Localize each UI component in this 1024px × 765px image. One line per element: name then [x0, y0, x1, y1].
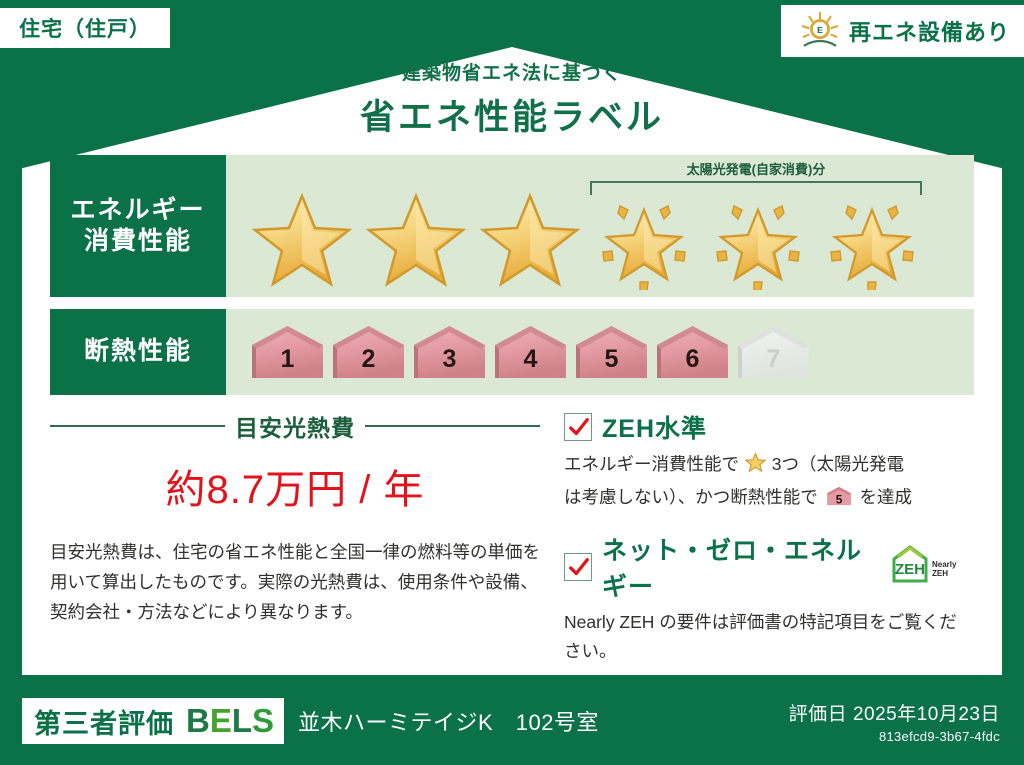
star-rating	[248, 189, 964, 291]
zeh-text-part1: エネルギー消費性能で	[564, 454, 739, 474]
zeh-logo-sub1: Nearly	[932, 560, 957, 569]
insulation-performance-label: 断熱性能	[50, 309, 226, 395]
bels-certification-mark: 第三者評価 BELS	[22, 698, 284, 744]
star-icon-solar	[590, 190, 698, 290]
zeh-logo-text: ZEH	[895, 561, 925, 578]
utility-cost-note: 目安光熱費は、住宅の省エネ性能と全国一律の燃料等の単価を用いて算出したものです。…	[50, 537, 540, 627]
energy-label-root: 住宅（住戸） E 再エネ設備あり 建築物省エネ	[0, 0, 1024, 765]
solar-bracket-caption: 太陽光発電(自家消費)分	[590, 159, 922, 178]
insulation-grade-badge-inactive: 7	[734, 323, 813, 381]
evaluation-info: 評価日 2025年10月23日 813efcd9-3b67-4fdc	[789, 699, 1000, 744]
main-content: エネルギー 消費性能 太陽光発電(自家消費)分	[50, 155, 974, 669]
insulation-label-text: 断熱性能	[84, 336, 192, 367]
insulation-performance-row: 断熱性能	[50, 309, 974, 395]
grade-number: 1	[248, 323, 327, 381]
star-icon	[362, 190, 470, 290]
zeh-text-star-count: 3つ（太陽光発電	[772, 454, 904, 474]
zeh-logo-icon: ZEH Nearly ZEH	[888, 543, 974, 590]
net-zero-title: ネット・ゼロ・エネルギー	[602, 531, 872, 603]
bels-logo-text: BELS	[186, 702, 274, 740]
page-title: 建築物省エネ法に基づく 省エネ性能ラベル	[0, 58, 1024, 140]
lower-section: 目安光熱費 約8.7万円 / 年 目安光熱費は、住宅の省エネ性能と全国一律の燃料…	[50, 409, 974, 681]
energy-performance-row: エネルギー 消費性能 太陽光発電(自家消費)分	[50, 155, 974, 297]
grade-number: 3	[410, 323, 489, 381]
zeh-text-part2: は考慮しない）、かつ断熱性能で	[564, 487, 818, 507]
insulation-grade-badge: 4	[491, 323, 570, 381]
title-main: 省エネ性能ラベル	[0, 89, 1024, 140]
utility-cost-column: 目安光熱費 約8.7万円 / 年 目安光熱費は、住宅の省エネ性能と全国一律の燃料…	[50, 409, 550, 681]
svg-text:E: E	[817, 25, 823, 35]
grade-number: 2	[329, 323, 408, 381]
footer: 第三者評価 BELS 並木ハーミテイジK 102号室 評価日 2025年10月2…	[0, 677, 1024, 765]
zeh-standard-heading: ZEH水準	[564, 409, 974, 445]
energy-label-line2: 消費性能	[84, 226, 192, 257]
renewable-equipment-badge: E 再エネ設備あり	[781, 5, 1024, 57]
insulation-grade-scale: 1 2	[226, 309, 974, 395]
zeh-text-part3: を達成	[860, 487, 913, 507]
heading-rule-left	[50, 425, 225, 427]
insulation-grade-badge: 3	[410, 323, 489, 381]
grade-number: 6	[653, 323, 732, 381]
star-icon	[476, 190, 584, 290]
evaluation-id: 813efcd9-3b67-4fdc	[789, 729, 1000, 744]
utility-cost-value: 約8.7万円 / 年	[50, 457, 540, 515]
grade-number: 4	[491, 323, 570, 381]
utility-cost-heading-text: 目安光熱費	[235, 409, 355, 443]
zeh-standard-checkbox[interactable]	[564, 413, 592, 441]
grade-number: 7	[734, 323, 813, 381]
building-type-tag: 住宅（住戸）	[0, 8, 170, 48]
zeh-standard-title: ZEH水準	[602, 409, 707, 445]
energy-performance-body: 太陽光発電(自家消費)分	[226, 155, 974, 297]
third-party-label: 第三者評価	[34, 702, 174, 741]
insulation-grade-badge: 2	[329, 323, 408, 381]
zeh-logo-sub2: ZEH	[932, 569, 948, 578]
net-zero-checkbox[interactable]	[564, 553, 592, 581]
insulation-grade-icon-inline: 5	[825, 491, 858, 511]
grade-number: 5	[572, 323, 651, 381]
title-subtitle: 建築物省エネ法に基づく	[0, 58, 1024, 85]
star-icon	[248, 190, 356, 290]
zeh-standard-text: エネルギー消費性能で 3つ（太陽光発電 は考慮しない）、かつ断熱性能で 5	[564, 450, 974, 517]
renewable-badge-label: 再エネ設備あり	[849, 15, 1010, 47]
star-icon-inline	[745, 457, 771, 477]
heading-rule-right	[365, 425, 540, 427]
zeh-column: ZEH水準 エネルギー消費性能で 3つ（太陽光発電 は考慮しない）、かつ断熱性能…	[550, 409, 974, 681]
sun-icon: E	[799, 10, 841, 52]
net-zero-block: ネット・ゼロ・エネルギー ZEH Nearly ZEH Nearly ZEH の…	[564, 531, 974, 668]
energy-label-line1: エネルギー	[70, 195, 205, 226]
energy-performance-label: エネルギー 消費性能	[50, 155, 226, 297]
building-name: 並木ハーミテイジK 102号室	[298, 705, 599, 737]
inline-grade-number: 5	[835, 492, 842, 506]
insulation-grade-badge: 6	[653, 323, 732, 381]
net-zero-text: Nearly ZEH の要件は評価書の特記項目をご覧ください。	[564, 608, 974, 668]
star-icon-solar	[704, 190, 812, 290]
insulation-performance-body: 1 2	[226, 309, 974, 395]
zeh-standard-block: ZEH水準 エネルギー消費性能で 3つ（太陽光発電 は考慮しない）、かつ断熱性能…	[564, 409, 974, 517]
evaluation-date: 評価日 2025年10月23日	[789, 699, 1000, 726]
net-zero-heading: ネット・ゼロ・エネルギー ZEH Nearly ZEH	[564, 531, 974, 603]
insulation-grade-badge: 5	[572, 323, 651, 381]
star-icon-solar	[818, 190, 926, 290]
insulation-grade-badge: 1	[248, 323, 327, 381]
utility-cost-heading: 目安光熱費	[50, 409, 540, 443]
